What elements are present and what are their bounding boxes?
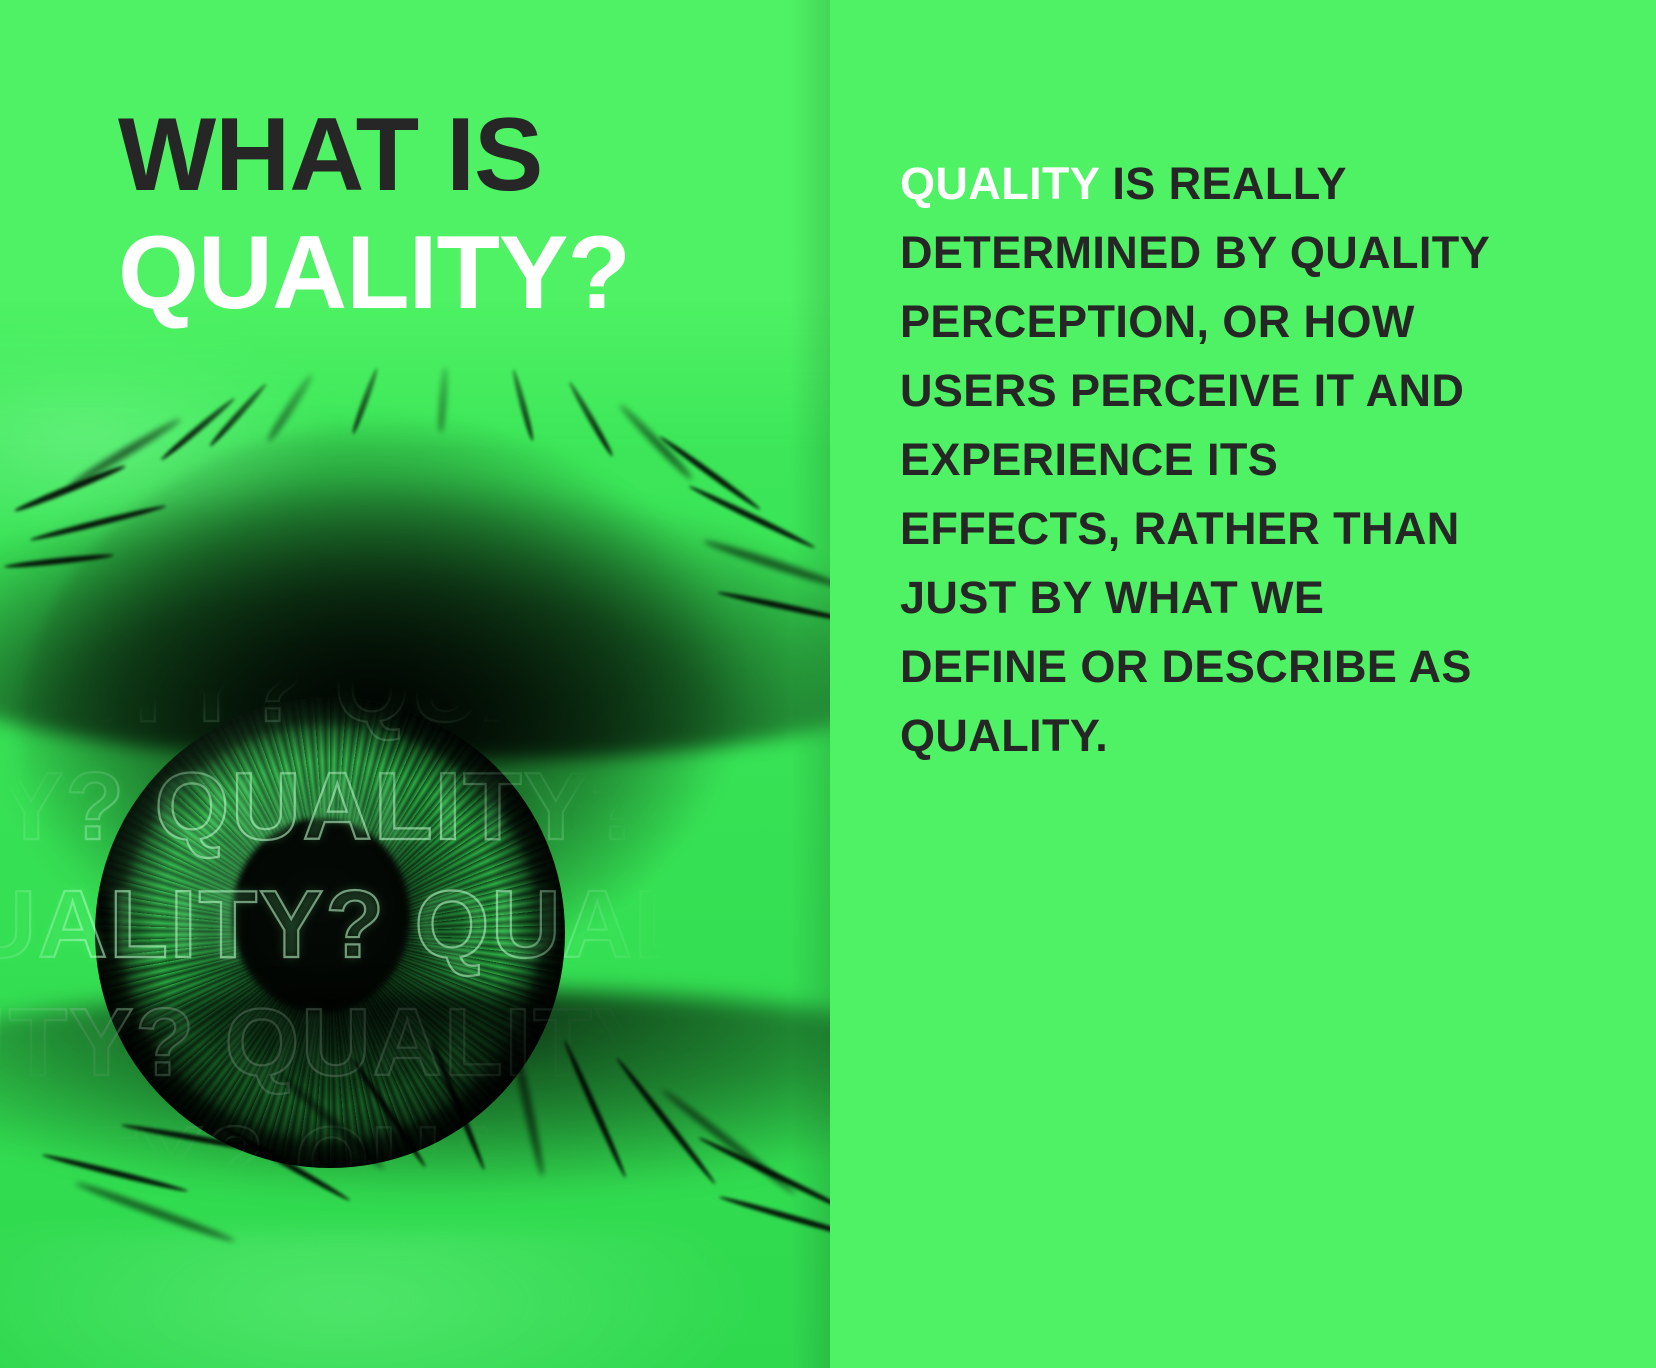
page-title: WHAT IS QUALITY? (118, 96, 758, 332)
left-page: QUALITY? QUALITY? QUALITY? QUALITY? QUAL… (0, 0, 830, 1368)
right-page: QUALITY IS REALLY DETERMINED BY QUALITY … (830, 0, 1656, 1368)
upper-eyelashes (0, 390, 830, 680)
headline-line-1: WHAT IS (118, 96, 758, 214)
eye-photograph: QUALITY? QUALITY? QUALITY? QUALITY? QUAL… (0, 300, 830, 1368)
body-rest-text: IS REALLY DETERMINED BY QUALITY PERCEPTI… (900, 158, 1489, 761)
body-paragraph: QUALITY IS REALLY DETERMINED BY QUALITY … (900, 149, 1500, 770)
iris-overlay-row: QUALITY? QUALITY? QUALITY? (0, 748, 830, 866)
lower-eyelashes (0, 1040, 830, 1368)
body-lead-word: QUALITY (900, 158, 1099, 209)
slide-canvas: QUALITY? QUALITY? QUALITY? QUALITY? QUAL… (0, 0, 1656, 1368)
iris-overlay-row: QUALITY? QUALITY? QUALITY? (0, 866, 830, 984)
headline-line-2: QUALITY? (118, 214, 758, 332)
